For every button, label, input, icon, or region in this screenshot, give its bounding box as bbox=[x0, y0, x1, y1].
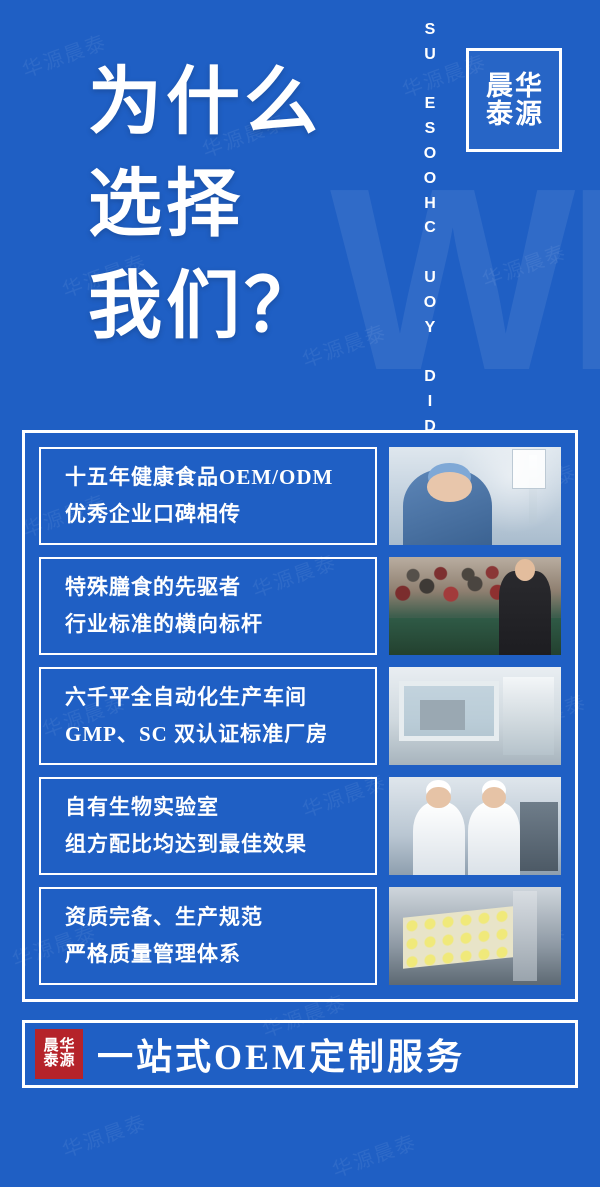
cleanroom-workshop-photo bbox=[389, 667, 561, 765]
blister-packing-machine-photo bbox=[389, 887, 561, 985]
seal-char-4: 泰 bbox=[486, 100, 513, 128]
brand-seal-chars: 华 源 晨 泰 bbox=[486, 72, 542, 129]
feature-line: 十五年健康食品OEM/ODM bbox=[65, 459, 375, 496]
vertical-letter: O bbox=[418, 167, 444, 192]
feature-row: 十五年健康食品OEM/ODM 优秀企业口碑相传 bbox=[39, 447, 561, 545]
lab-technician-photo bbox=[389, 447, 561, 545]
laboratory-staff-photo bbox=[389, 777, 561, 875]
feature-line: 优秀企业口碑相传 bbox=[65, 496, 375, 533]
vertical-letter: O bbox=[418, 142, 444, 167]
vertical-letter: E bbox=[418, 92, 444, 117]
watermark: 华源晨泰 bbox=[328, 1126, 421, 1183]
features-panel: 十五年健康食品OEM/ODM 优秀企业口碑相传 特殊膳食的先驱者 行业标准的横向… bbox=[22, 430, 578, 1002]
feature-line: 特殊膳食的先驱者 bbox=[65, 569, 375, 606]
bottom-cta-text: 一站式OEM定制服务 bbox=[97, 1028, 465, 1080]
poster-header: 为什么 选择 我们？ SU ESOOHC UOY DID YHW 华 源 晨 泰 bbox=[0, 0, 600, 430]
vertical-letter: H bbox=[418, 192, 444, 217]
feature-line: 严格质量管理体系 bbox=[65, 936, 375, 973]
vertical-letter bbox=[418, 241, 444, 266]
headline-line-3: 我们？ bbox=[88, 256, 322, 358]
vertical-letter: S bbox=[418, 18, 444, 43]
feature-text-2: 特殊膳食的先驱者 行业标准的横向标杆 bbox=[39, 557, 377, 655]
conference-hall-photo bbox=[389, 557, 561, 655]
vertical-letter: I bbox=[418, 390, 444, 415]
seal-char-4: 泰 bbox=[43, 1054, 58, 1069]
seal-char-2: 源 bbox=[60, 1054, 75, 1069]
feature-text-4: 自有生物实验室 组方配比均达到最佳效果 bbox=[39, 777, 377, 875]
feature-row: 资质完备、生产规范 严格质量管理体系 bbox=[39, 887, 561, 985]
vertical-letter: O bbox=[418, 291, 444, 316]
vertical-letter: C bbox=[418, 216, 444, 241]
vertical-letter: Y bbox=[418, 316, 444, 341]
feature-line: 自有生物实验室 bbox=[65, 789, 375, 826]
feature-text-3: 六千平全自动化生产车间 GMP、SC 双认证标准厂房 bbox=[39, 667, 377, 765]
bottom-cta-bar: 华 源 晨 泰 一站式OEM定制服务 bbox=[22, 1020, 578, 1088]
seal-char-3: 晨 bbox=[486, 72, 513, 100]
seal-char-1: 华 bbox=[60, 1039, 75, 1054]
feature-line: 六千平全自动化生产车间 bbox=[65, 679, 375, 716]
brand-seal-logo: 华 源 晨 泰 bbox=[466, 48, 562, 152]
feature-row: 自有生物实验室 组方配比均达到最佳效果 bbox=[39, 777, 561, 875]
vertical-letter bbox=[418, 68, 444, 93]
headline-line-2: 选择 bbox=[88, 154, 322, 256]
feature-text-1: 十五年健康食品OEM/ODM 优秀企业口碑相传 bbox=[39, 447, 377, 545]
vertical-letter: S bbox=[418, 117, 444, 142]
brand-seal-red: 华 源 晨 泰 bbox=[35, 1029, 83, 1079]
vertical-letter bbox=[418, 340, 444, 365]
poster-root: 华源晨泰 华源晨泰 华源晨泰 华源晨泰 华源晨泰 华源晨泰 华源晨泰 华源晨泰 … bbox=[0, 0, 600, 1187]
feature-line: 资质完备、生产规范 bbox=[65, 899, 375, 936]
feature-line: 行业标准的横向标杆 bbox=[65, 606, 375, 643]
seal-char-3: 晨 bbox=[43, 1039, 58, 1054]
feature-line: GMP、SC 双认证标准厂房 bbox=[65, 716, 375, 753]
page-title: 为什么 选择 我们？ bbox=[88, 52, 322, 358]
vertical-letter: U bbox=[418, 43, 444, 68]
feature-row: 六千平全自动化生产车间 GMP、SC 双认证标准厂房 bbox=[39, 667, 561, 765]
headline-line-1: 为什么 bbox=[88, 52, 322, 154]
seal-char-1: 华 bbox=[515, 72, 542, 100]
watermark: 华源晨泰 bbox=[58, 1106, 151, 1163]
feature-row: 特殊膳食的先驱者 行业标准的横向标杆 bbox=[39, 557, 561, 655]
vertical-letter: D bbox=[418, 365, 444, 390]
feature-text-5: 资质完备、生产规范 严格质量管理体系 bbox=[39, 887, 377, 985]
seal-char-2: 源 bbox=[515, 100, 542, 128]
feature-line: 组方配比均达到最佳效果 bbox=[65, 826, 375, 863]
vertical-letter: U bbox=[418, 266, 444, 291]
